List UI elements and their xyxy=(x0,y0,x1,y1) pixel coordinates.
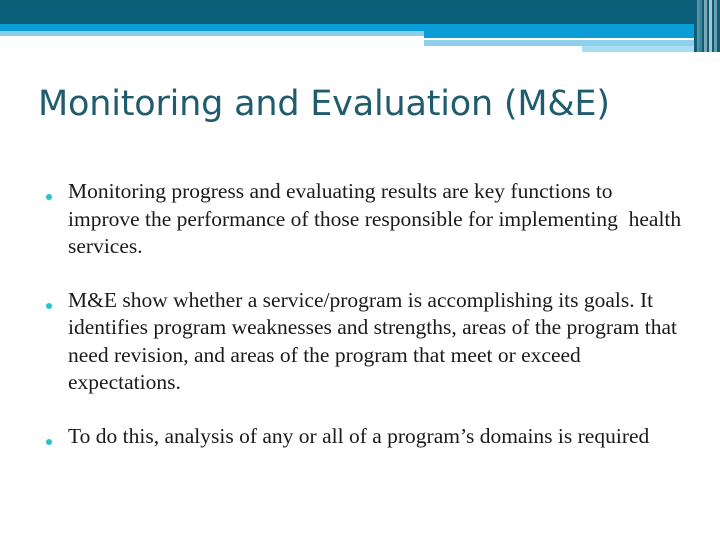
banner-band-light-left xyxy=(0,31,424,36)
list-item-text: Monitoring progress and evaluating resul… xyxy=(68,178,686,261)
bullet-dot-icon xyxy=(46,178,68,205)
list-item: M&E show whether a service/program is ac… xyxy=(46,287,686,397)
list-item: Monitoring progress and evaluating resul… xyxy=(46,178,686,261)
banner-vertical-stripes xyxy=(694,0,720,52)
slide: Monitoring and Evaluation (M&E) Monitori… xyxy=(0,0,720,540)
bullet-dot-icon xyxy=(46,423,68,450)
banner-band-dark xyxy=(0,0,720,24)
bullet-list: Monitoring progress and evaluating resul… xyxy=(46,178,686,450)
bullet-dot-icon xyxy=(46,287,68,314)
banner-band-bright xyxy=(0,24,720,31)
slide-header-banner xyxy=(0,0,720,52)
page-title: Monitoring and Evaluation (M&E) xyxy=(38,84,688,124)
list-item-text: To do this, analysis of any or all of a … xyxy=(68,423,686,451)
banner-band-bright-right xyxy=(424,31,720,38)
list-item-text: M&E show whether a service/program is ac… xyxy=(68,287,686,397)
list-item: To do this, analysis of any or all of a … xyxy=(46,423,686,451)
